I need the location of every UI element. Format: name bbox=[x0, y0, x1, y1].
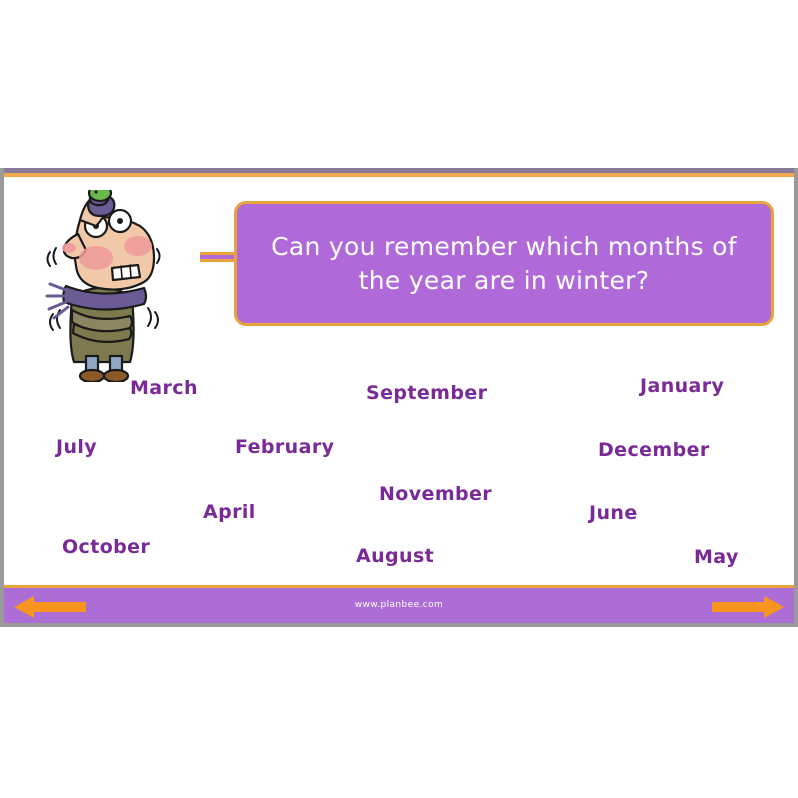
slide-footer: www.planbee.com bbox=[4, 585, 794, 623]
presentation-slide: Can you remember which months of the yea… bbox=[0, 168, 798, 627]
month-word-july[interactable]: July bbox=[56, 436, 97, 458]
month-word-february[interactable]: February bbox=[235, 436, 334, 458]
next-slide-arrow-icon[interactable] bbox=[710, 593, 786, 621]
website-url: www.planbee.com bbox=[4, 600, 794, 610]
month-word-june[interactable]: June bbox=[589, 502, 638, 524]
shivering-man-illustration bbox=[26, 190, 186, 382]
top-border-orange-line bbox=[4, 173, 798, 177]
month-word-october[interactable]: October bbox=[62, 536, 150, 558]
question-text: Can you remember which months of the yea… bbox=[237, 230, 771, 298]
month-word-august[interactable]: August bbox=[356, 545, 434, 567]
speech-bubble-tail bbox=[200, 252, 238, 262]
month-word-april[interactable]: April bbox=[203, 501, 256, 523]
month-word-march[interactable]: March bbox=[130, 377, 198, 399]
month-word-january[interactable]: January bbox=[640, 375, 724, 397]
speech-bubble: Can you remember which months of the yea… bbox=[234, 201, 774, 326]
month-word-may[interactable]: May bbox=[694, 546, 739, 568]
month-word-december[interactable]: December bbox=[598, 439, 710, 461]
month-word-november[interactable]: November bbox=[379, 483, 492, 505]
month-word-september[interactable]: September bbox=[366, 382, 487, 404]
slide-top-border bbox=[4, 168, 798, 177]
